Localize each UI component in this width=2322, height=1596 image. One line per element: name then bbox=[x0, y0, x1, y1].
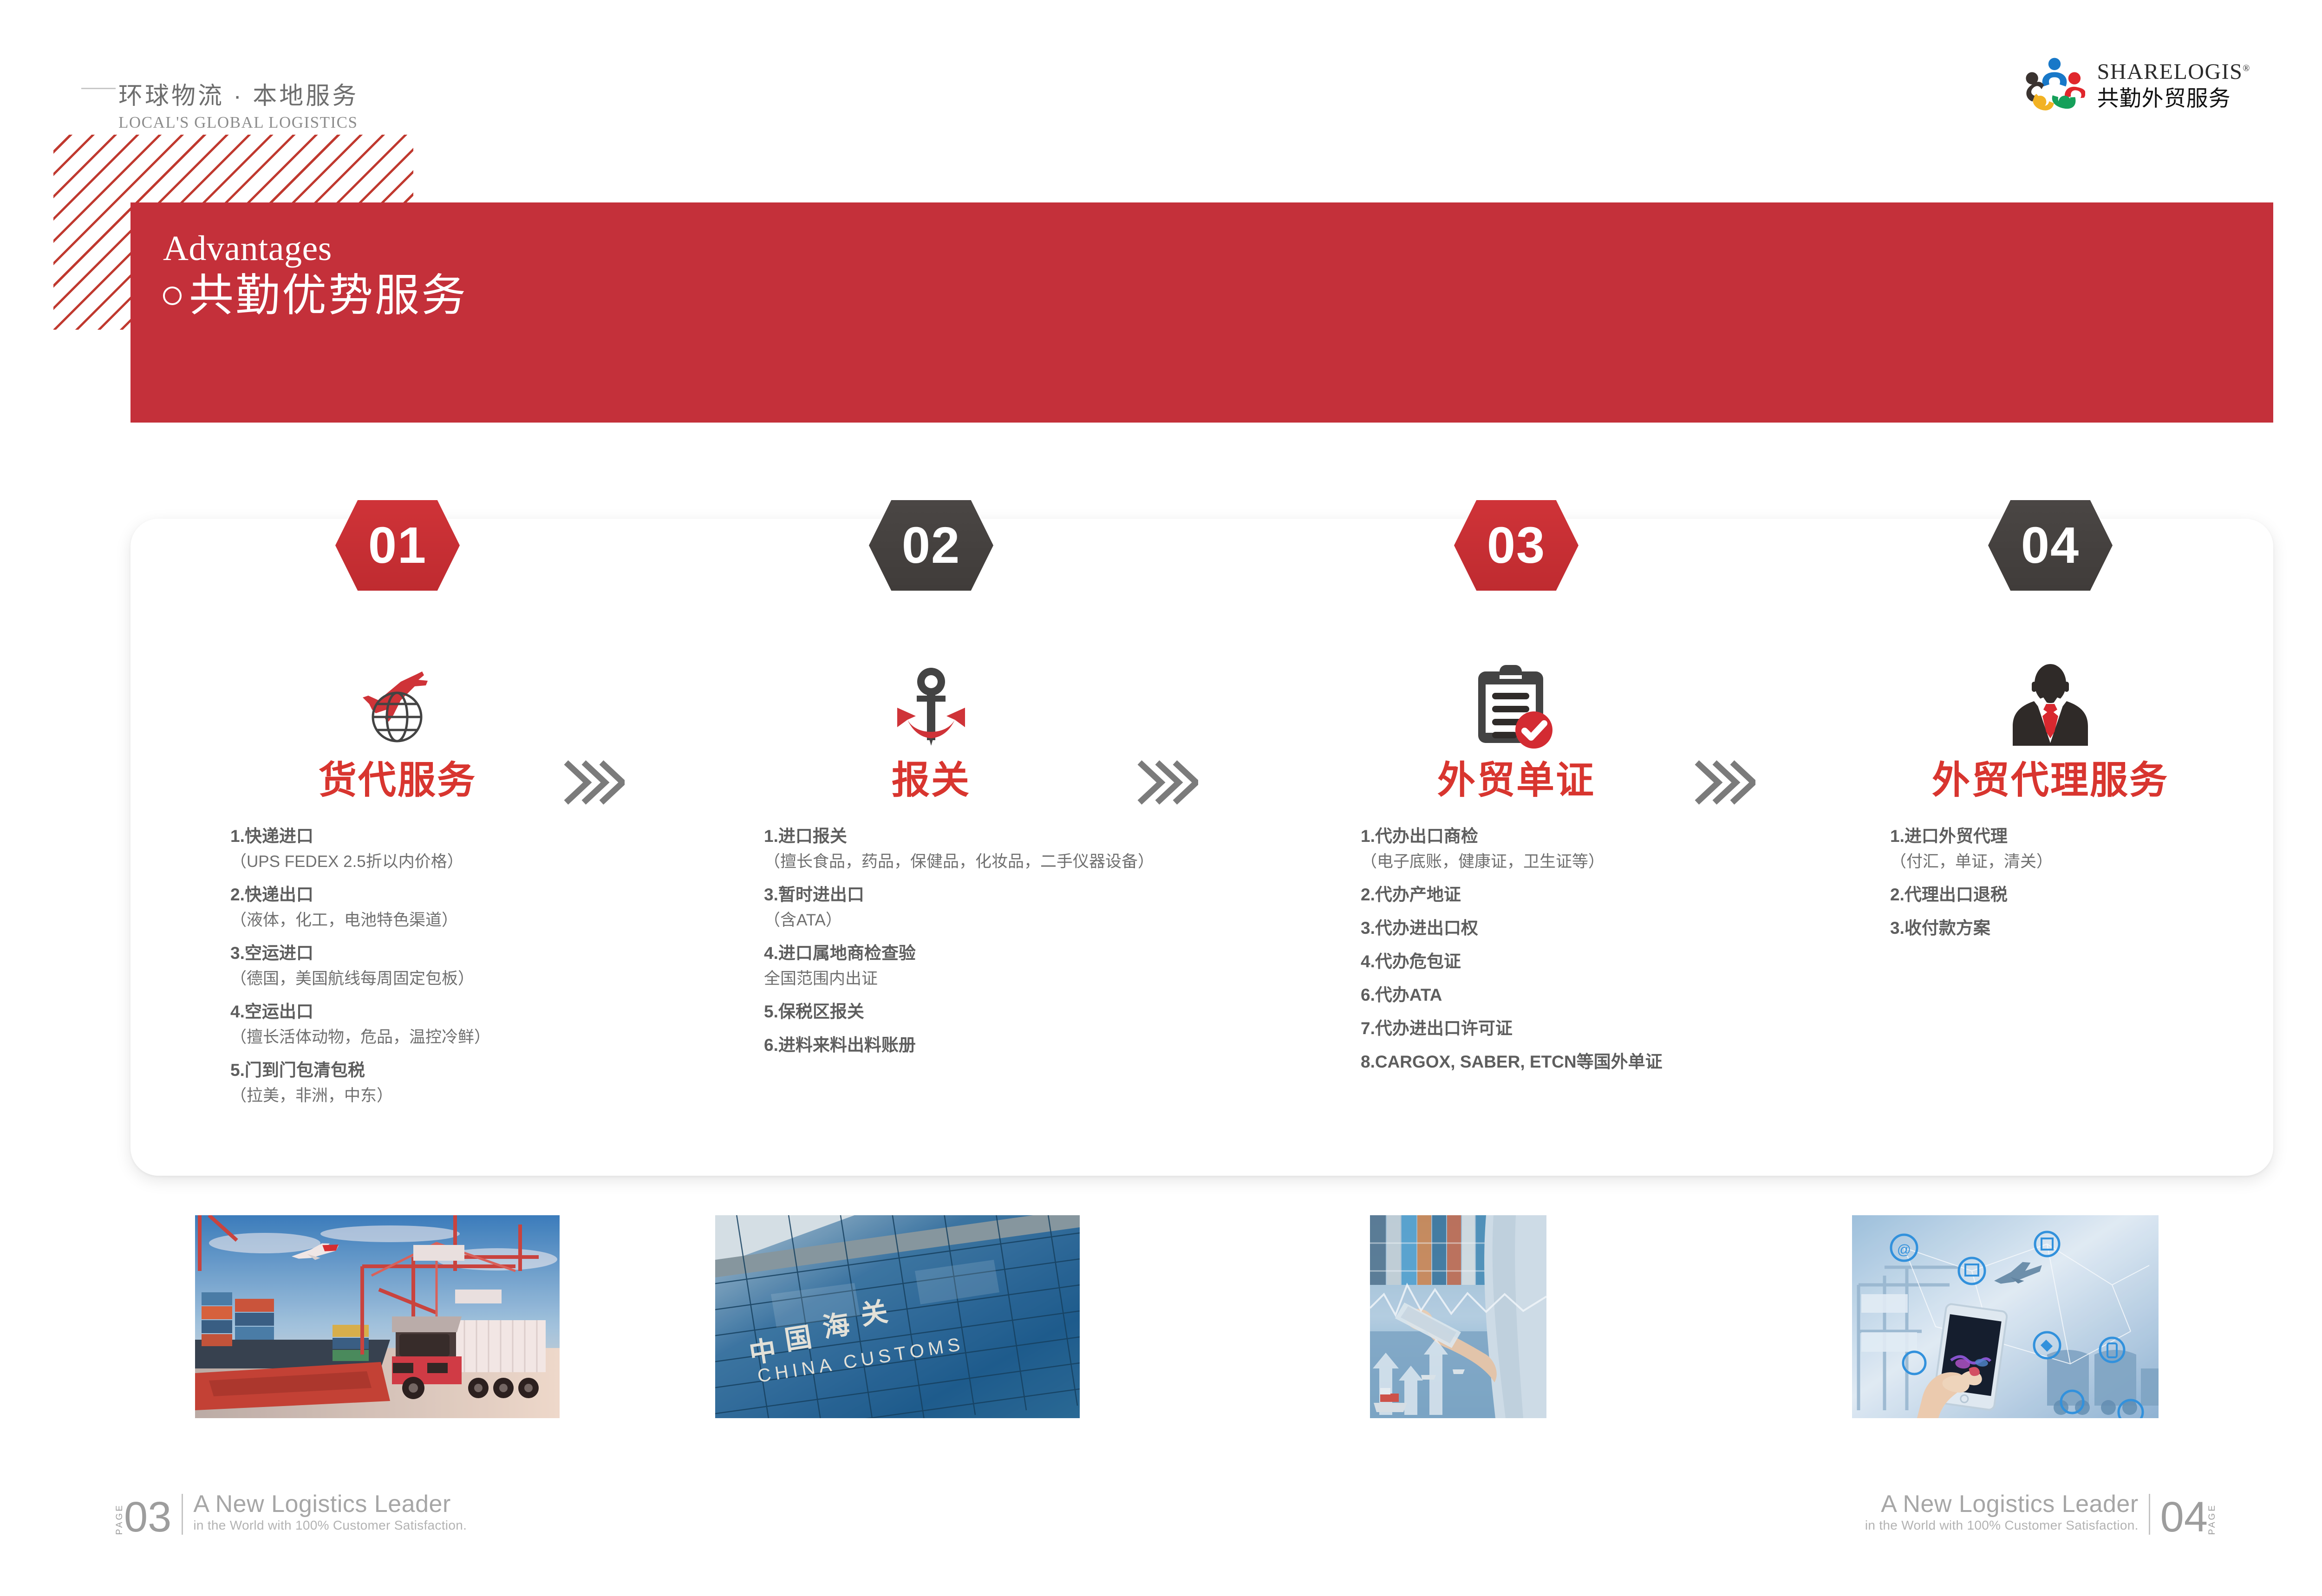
step-number-02: 02 bbox=[902, 516, 960, 575]
list-item: 1.进口报关 （擅长食品，药品，保健品，化妆品，二手仪器设备） bbox=[764, 825, 1198, 873]
bullet-sub: （拉美，非洲，中东） bbox=[230, 1084, 665, 1107]
list-item: 7.代办进出口许可证 bbox=[1361, 1017, 1783, 1040]
footer-page-number-right: 04 bbox=[2160, 1500, 2208, 1535]
list-item: 3.空运进口 （德国，美国航线每周固定包板） bbox=[230, 942, 665, 990]
bullet-main: 1.代办出口商检 bbox=[1361, 825, 1783, 848]
footer-divider-right bbox=[2149, 1494, 2150, 1535]
footer-tagline-line1-right: A New Logistics Leader bbox=[1865, 1492, 2139, 1517]
advantage-column-1: 01 货代服务 1.快递进口 （UPS FEDEX 2.5折以内价格） 2.快递… bbox=[130, 519, 665, 1117]
bullet-main: 5.门到门包清包税 bbox=[230, 1059, 665, 1082]
footer-right: A New Logistics Leader in the World with… bbox=[1865, 1492, 2217, 1535]
advantage-column-4: 04 外贸代理服务 1.进口外贸代理 （付汇，单证，清关） 2.代理出口退税 3… bbox=[1783, 519, 2317, 950]
bullet-sub: 全国范围内出证 bbox=[764, 967, 1198, 990]
logo-trademark: ® bbox=[2243, 63, 2250, 73]
footer-page-number-left: 03 bbox=[124, 1500, 171, 1535]
airplane-globe-icon bbox=[130, 633, 665, 749]
bullet-main: 3.暂时进出口 bbox=[764, 883, 1198, 906]
list-item: 1.代办出口商检 （电子底账，健康证，卫生证等） bbox=[1361, 825, 1783, 873]
bullet-main: 4.进口属地商检查验 bbox=[764, 942, 1198, 965]
bullet-sub: （擅长食品，药品，保健品，化妆品，二手仪器设备） bbox=[764, 850, 1198, 873]
bullet-sub: （德国，美国航线每周固定包板） bbox=[230, 967, 665, 990]
bullet-main: 5.保税区报关 bbox=[764, 1000, 1198, 1023]
bullet-main: 1.进口报关 bbox=[764, 825, 1198, 848]
photo-inspector-tablet-port bbox=[1370, 1215, 1546, 1418]
section-title-en: Advantages bbox=[163, 230, 468, 267]
list-item: 3.暂时进出口 （含ATA） bbox=[764, 883, 1198, 932]
advantage-column-2: 02 报关 1.进口报关 （擅长食品，药品，保健品，化妆品，二手仪器设备） 3.… bbox=[664, 519, 1198, 1067]
separator-chevron-2 bbox=[1133, 757, 1198, 808]
sharelogis-logo-mark-icon bbox=[2024, 55, 2085, 116]
bullet-main: 6.代办ATA bbox=[1361, 984, 1783, 1007]
column-1-bullets: 1.快递进口 （UPS FEDEX 2.5折以内价格） 2.快递出口 （液体，化… bbox=[130, 825, 665, 1107]
bullet-main: 3.代办进出口权 bbox=[1361, 917, 1783, 940]
bullet-main: 4.代办危包证 bbox=[1361, 950, 1783, 973]
list-item: 1.快递进口 （UPS FEDEX 2.5折以内价格） bbox=[230, 825, 665, 873]
list-item: 4.代办危包证 bbox=[1361, 950, 1783, 973]
separator-chevron-3 bbox=[1690, 757, 1755, 808]
list-item: 3.代办进出口权 bbox=[1361, 917, 1783, 940]
list-item: 6.进料来料出料账册 bbox=[764, 1034, 1198, 1057]
circle-bullet-icon bbox=[163, 287, 182, 305]
header-rule bbox=[81, 88, 116, 89]
section-banner: Advantages 共勤优势服务 bbox=[130, 202, 2273, 423]
list-item: 8.CARGOX, SABER, ETCN等国外单证 bbox=[1361, 1050, 1783, 1074]
bullet-main: 1.快递进口 bbox=[230, 825, 665, 848]
list-item: 6.代办ATA bbox=[1361, 984, 1783, 1007]
bullet-main: 8.CARGOX, SABER, ETCN等国外单证 bbox=[1361, 1050, 1783, 1074]
list-item: 1.进口外贸代理 （付汇，单证，清关） bbox=[1890, 825, 2317, 873]
clipboard-check-icon bbox=[1249, 633, 1783, 749]
footer-tagline-line1-left: A New Logistics Leader bbox=[193, 1492, 467, 1517]
column-3-bullets: 1.代办出口商检 （电子底账，健康证，卫生证等） 2.代办产地证 3.代办进出口… bbox=[1249, 825, 1783, 1074]
bullet-sub: （擅长活体动物，危品，温控冷鲜） bbox=[230, 1026, 665, 1049]
photo-digital-logistics-tablet: @ bbox=[1852, 1215, 2159, 1418]
step-number-01: 01 bbox=[368, 516, 427, 575]
footer-left: PAGE 03 A New Logistics Leader in the Wo… bbox=[115, 1492, 467, 1535]
step-badge-04: 04 bbox=[1988, 500, 2113, 591]
bullet-main: 2.快递出口 bbox=[230, 883, 665, 906]
bullet-sub: （付汇，单证，清关） bbox=[1890, 850, 2317, 873]
step-number-04: 04 bbox=[2021, 516, 2080, 575]
logo-name-en-text: SHARELOGIS bbox=[2097, 59, 2243, 84]
list-item: 5.保税区报关 bbox=[764, 1000, 1198, 1023]
bullet-main: 2.代办产地证 bbox=[1361, 883, 1783, 906]
brand-logo: SHARELOGIS® 共勤外贸服务 bbox=[2024, 55, 2250, 116]
column-title-2: 报关 bbox=[664, 762, 1198, 800]
list-item: 3.收付款方案 bbox=[1890, 917, 2317, 940]
list-item: 4.进口属地商检查验 全国范围内出证 bbox=[764, 942, 1198, 990]
bullet-main: 3.空运进口 bbox=[230, 942, 665, 965]
footer-page-label-right: PAGE bbox=[2208, 1501, 2217, 1535]
bullet-main: 3.收付款方案 bbox=[1890, 917, 2317, 940]
bullet-main: 6.进料来料出料账册 bbox=[764, 1034, 1198, 1057]
bullet-sub: （UPS FEDEX 2.5折以内价格） bbox=[230, 850, 665, 873]
step-badge-03: 03 bbox=[1454, 500, 1578, 591]
footer-divider-left bbox=[182, 1494, 183, 1535]
column-4-bullets: 1.进口外贸代理 （付汇，单证，清关） 2.代理出口退税 3.收付款方案 bbox=[1783, 825, 2317, 940]
list-item: 2.代办产地证 bbox=[1361, 883, 1783, 906]
column-title-4: 外贸代理服务 bbox=[1783, 762, 2317, 800]
footer-tagline-line2-left: in the World with 100% Customer Satisfac… bbox=[193, 1518, 467, 1533]
bullet-sub: （液体，化工，电池特色渠道） bbox=[230, 909, 665, 932]
bullet-main: 2.代理出口退税 bbox=[1890, 883, 2317, 906]
step-badge-02: 02 bbox=[869, 500, 993, 591]
logo-name-en: SHARELOGIS® bbox=[2097, 61, 2250, 83]
bullet-sub: （电子底账，健康证，卫生证等） bbox=[1361, 850, 1783, 873]
list-item: 2.代理出口退税 bbox=[1890, 883, 2317, 906]
businessman-icon bbox=[1783, 633, 2317, 749]
section-title-cn-row: 共勤优势服务 bbox=[163, 271, 468, 320]
step-number-03: 03 bbox=[1487, 516, 1546, 575]
bullet-sub: （含ATA） bbox=[764, 909, 1198, 932]
bullet-main: 1.进口外贸代理 bbox=[1890, 825, 2317, 848]
footer-tagline-line2-right: in the World with 100% Customer Satisfac… bbox=[1865, 1518, 2139, 1533]
step-badge-01: 01 bbox=[335, 500, 460, 591]
list-item: 4.空运出口 （擅长活体动物，危品，温控冷鲜） bbox=[230, 1000, 665, 1049]
bullet-main: 7.代办进出口许可证 bbox=[1361, 1017, 1783, 1040]
section-title-cn: 共勤优势服务 bbox=[189, 271, 468, 320]
list-item: 5.门到门包清包税 （拉美，非洲，中东） bbox=[230, 1059, 665, 1107]
photo-container-port-truck bbox=[195, 1215, 560, 1418]
separator-chevron-1 bbox=[560, 757, 625, 808]
photo-china-customs-building: 中国海关 CHINA CUSTOMS bbox=[715, 1215, 1080, 1418]
footer-page-label-left: PAGE bbox=[115, 1501, 124, 1535]
logo-name-cn: 共勤外贸服务 bbox=[2097, 86, 2250, 111]
column-2-bullets: 1.进口报关 （擅长食品，药品，保健品，化妆品，二手仪器设备） 3.暂时进出口 … bbox=[664, 825, 1198, 1057]
list-item: 2.快递出口 （液体，化工，电池特色渠道） bbox=[230, 883, 665, 932]
bullet-main: 4.空运出口 bbox=[230, 1000, 665, 1023]
anchor-icon bbox=[664, 633, 1198, 749]
